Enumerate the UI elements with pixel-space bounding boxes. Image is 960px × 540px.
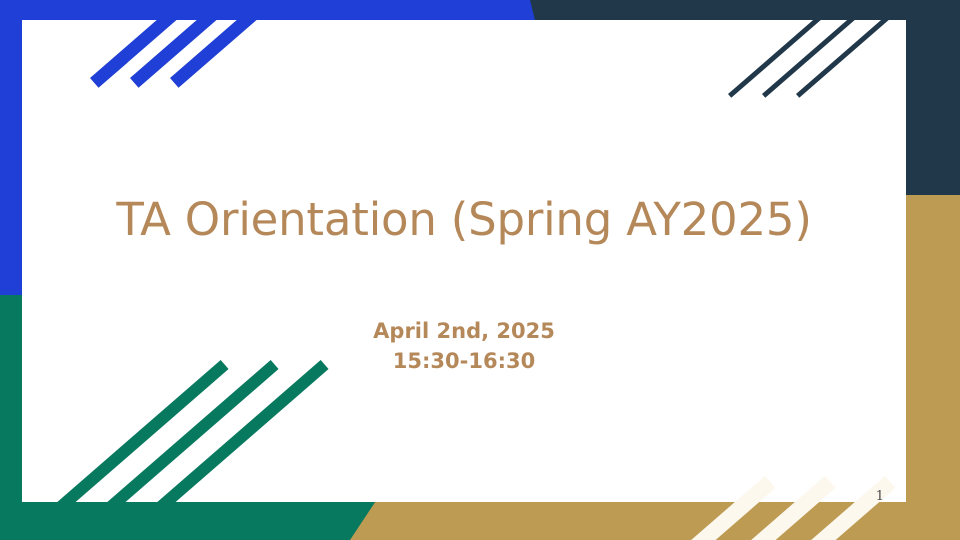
slide-subtitle: April 2nd, 2025 15:30-16:30 [22,316,906,377]
slide-number: 1 [876,489,884,504]
bottom-right-cream-stripes-icon [680,500,960,540]
slide-subtitle-line-date: April 2nd, 2025 [22,316,906,346]
slide-subtitle-line-time: 15:30-16:30 [22,346,906,376]
title-slide: TA Orientation (Spring AY2025) April 2nd… [0,0,960,540]
slide-text-content: TA Orientation (Spring AY2025) April 2nd… [22,20,906,502]
slide-title: TA Orientation (Spring AY2025) [22,194,906,246]
